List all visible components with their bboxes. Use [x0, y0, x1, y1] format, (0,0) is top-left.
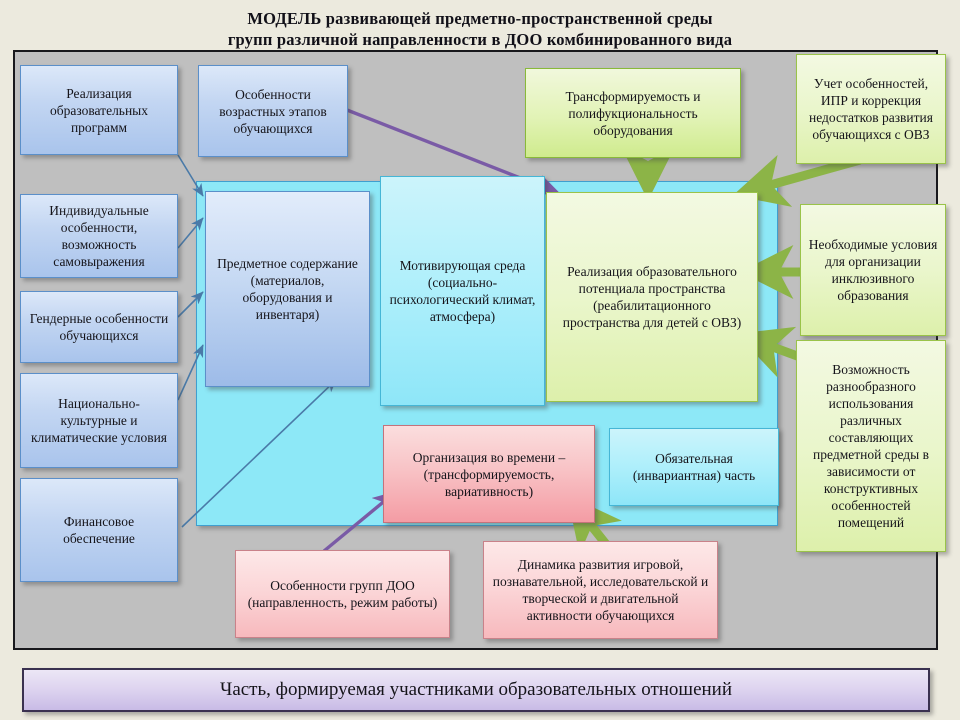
box-label: Обязательная (инвариантная) часть [616, 450, 772, 484]
box-label: Мотивирующая среда (социально-психологич… [387, 257, 538, 325]
footer-bar[interactable]: Часть, формируемая участниками образоват… [22, 668, 930, 712]
page-title: МОДЕЛЬ развивающей предметно-пространств… [60, 8, 900, 50]
box-transformiruemost[interactable]: Трансформируемость и полифукциональность… [525, 68, 741, 158]
box-label: Учет особенностей, ИПР и коррекция недос… [803, 75, 939, 143]
box-label: Реализация образовательных программ [27, 85, 171, 136]
box-label: Национально-культурные и климатические у… [27, 395, 171, 446]
box-label: Индивидуальные особенности, возможность … [27, 202, 171, 270]
box-predmetnoe-soderzhanie[interactable]: Предметное содержание (материалов, обору… [205, 191, 370, 387]
box-label: Динамика развития игровой, познавательно… [490, 556, 711, 624]
box-finansovoe-obespechenie[interactable]: Финансовое обеспечение [20, 478, 178, 582]
box-individualnye-osobennosti[interactable]: Индивидуальные особенности, возможность … [20, 194, 178, 278]
box-nacionalno-kulturnye[interactable]: Национально-культурные и климатические у… [20, 373, 178, 468]
box-label: Трансформируемость и полифукциональность… [532, 88, 734, 139]
box-vozrastnye-etapy[interactable]: Особенности возрастных этапов обучающихс… [198, 65, 348, 157]
box-label: Возможность разнообразного использования… [803, 361, 939, 531]
box-neobhodimye-usloviya[interactable]: Необходимые условия для организации инкл… [800, 204, 946, 336]
title-line-2: групп различной направленности в ДОО ком… [228, 30, 732, 49]
box-label: Гендерные особенности обучающихся [27, 310, 171, 344]
box-label: Необходимые условия для организации инкл… [807, 236, 939, 304]
box-realizaciya-potenciala[interactable]: Реализация образовательного потенциала п… [546, 192, 758, 402]
box-label: Особенности групп ДОО (направленность, р… [242, 577, 443, 611]
box-dinamika-razvitiya[interactable]: Динамика развития игровой, познавательно… [483, 541, 718, 639]
box-label: Предметное содержание (материалов, обору… [212, 255, 363, 323]
footer-label: Часть, формируемая участниками образоват… [220, 679, 732, 701]
box-obyazatelnaya-chast[interactable]: Обязательная (инвариантная) часть [609, 428, 779, 506]
diagram-canvas: МОДЕЛЬ развивающей предметно-пространств… [0, 0, 960, 720]
box-label: Финансовое обеспечение [27, 513, 171, 547]
box-uchet-osobennostey[interactable]: Учет особенностей, ИПР и коррекция недос… [796, 54, 946, 164]
box-label: Организация во времени – (трансформируем… [390, 449, 588, 500]
title-line-1: МОДЕЛЬ развивающей предметно-пространств… [247, 9, 712, 28]
box-gendernye-osobennosti[interactable]: Гендерные особенности обучающихся [20, 291, 178, 363]
box-vozmozhnost-raznoobraznogo[interactable]: Возможность разнообразного использования… [796, 340, 946, 552]
box-osobennosti-grupp[interactable]: Особенности групп ДОО (направленность, р… [235, 550, 450, 638]
box-organizaciya-vo-vremeni[interactable]: Организация во времени – (трансформируем… [383, 425, 595, 523]
box-label: Реализация образовательного потенциала п… [553, 263, 751, 331]
box-motiviruyushchaya-sreda[interactable]: Мотивирующая среда (социально-психологич… [380, 176, 545, 406]
box-realizaciya-programm[interactable]: Реализация образовательных программ [20, 65, 178, 155]
box-label: Особенности возрастных этапов обучающихс… [205, 86, 341, 137]
